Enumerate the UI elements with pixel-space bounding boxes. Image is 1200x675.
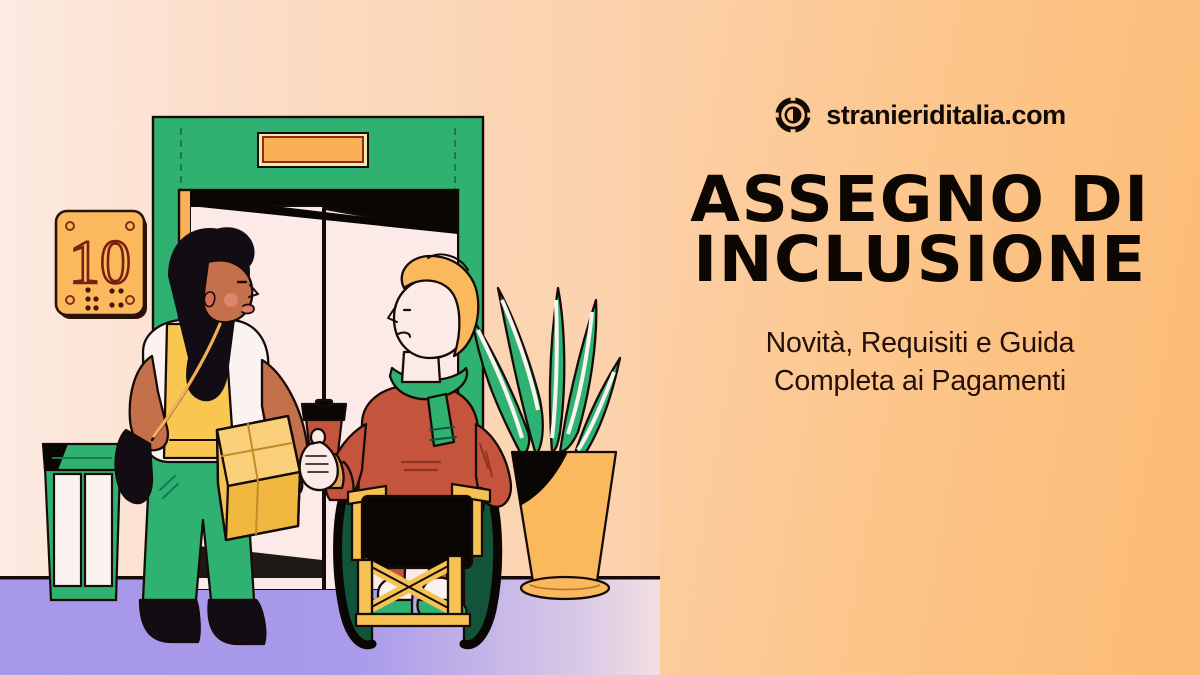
- poster-canvas: 10: [0, 0, 1200, 675]
- parcel-box: [217, 416, 300, 540]
- headline-line-2: INCLUSIONE: [634, 230, 1200, 290]
- floor-number-sign: 10: [56, 211, 147, 319]
- brand-lockup[interactable]: stranieriditalia.com: [640, 96, 1200, 134]
- elevator-display-panel: [258, 133, 368, 167]
- contrast-circle-icon: [774, 96, 812, 134]
- bin-panel-left: [54, 474, 81, 586]
- page-subtitle: Novità, Requisiti e Guida Completa ai Pa…: [640, 325, 1200, 401]
- page-title: ASSEGNO DI INCLUSIONE: [634, 170, 1200, 291]
- trash-bin: [43, 444, 122, 600]
- brand-name: stranieriditalia.com: [826, 100, 1066, 131]
- bin-panel-right: [85, 474, 112, 586]
- floor-number-text: 10: [69, 229, 131, 297]
- subhead-line-1: Novità, Requisiti e Guida: [766, 327, 1075, 359]
- subhead-line-2: Completa ai Pagamenti: [640, 363, 1200, 401]
- text-panel: stranieriditalia.com ASSEGNO DI INCLUSIO…: [640, 96, 1200, 401]
- hero-illustration: 10: [0, 0, 660, 675]
- pot-base: [521, 577, 609, 599]
